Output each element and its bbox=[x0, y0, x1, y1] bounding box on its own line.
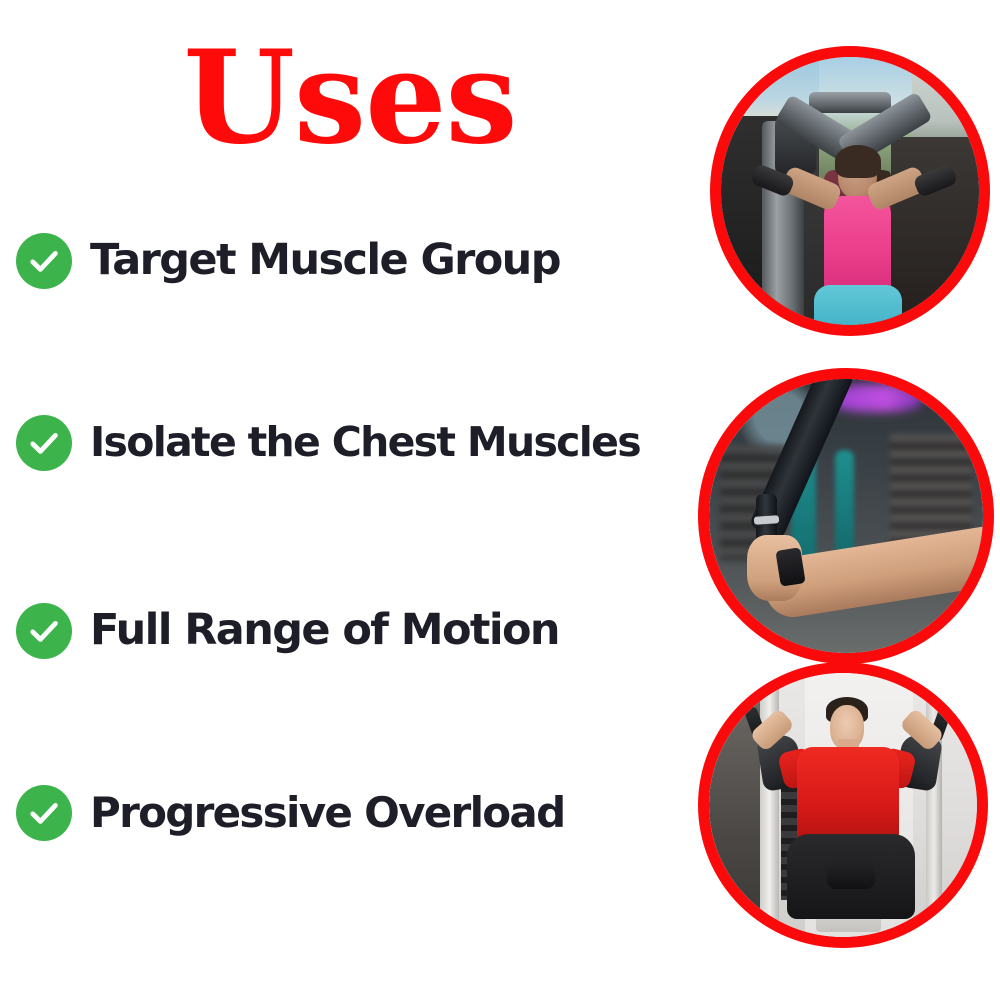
photo-clip bbox=[721, 57, 979, 325]
list-item-label: Target Muscle Group bbox=[90, 238, 560, 283]
check-circle-icon bbox=[16, 415, 72, 471]
list-item-label: Progressive Overload bbox=[90, 791, 564, 835]
list-item: Isolate the Chest Muscles bbox=[16, 412, 640, 474]
infographic-canvas: Uses Target Muscle Group Isolate the Che… bbox=[0, 0, 1000, 1000]
check-circle-icon bbox=[16, 603, 72, 659]
list-item: Progressive Overload bbox=[16, 782, 564, 844]
photo-clip bbox=[709, 673, 977, 937]
list-item: Full Range of Motion bbox=[16, 600, 559, 662]
photo-chest-fly-man bbox=[698, 662, 988, 948]
check-circle-icon bbox=[16, 785, 72, 841]
photo-machine-handle-grip bbox=[698, 368, 994, 664]
list-item: Target Muscle Group bbox=[16, 230, 560, 292]
list-item-label: Isolate the Chest Muscles bbox=[90, 421, 640, 464]
photo-clip bbox=[709, 379, 983, 653]
list-item-label: Full Range of Motion bbox=[90, 608, 559, 653]
photo-chest-fly-woman bbox=[710, 46, 990, 336]
page-title: Uses bbox=[0, 34, 700, 162]
check-circle-icon bbox=[16, 233, 72, 289]
